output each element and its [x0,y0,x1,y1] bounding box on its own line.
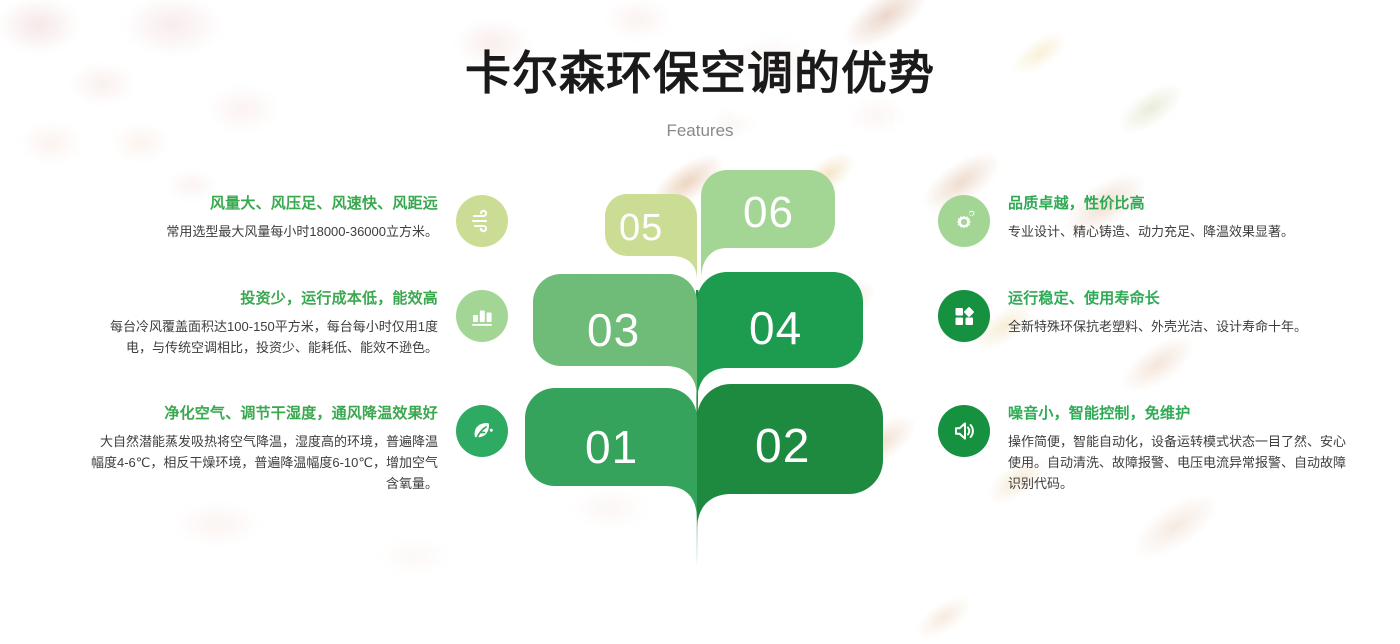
leaf-03[interactable]: 03 [533,274,697,398]
leaf-04[interactable]: 04 [697,272,863,402]
leaf-number-label: 06 [743,188,794,238]
header: 卡尔森环保空调的优势 Features [0,0,1400,142]
speaker-icon [938,405,990,457]
blocks-icon [938,290,990,342]
feature-title: 运行稳定、使用寿命长 [1008,288,1358,309]
feature-text-block: 净化空气、调节干湿度，通风降温效果好 大自然潜能蒸发吸热将空气降温，湿度高的环境… [88,403,456,494]
bar-chart-icon [456,290,508,342]
feature-item-low-noise[interactable]: 噪音小，智能控制，免维护 操作简便，智能自动化，设备运转模式状态一目了然、安心使… [938,403,1358,494]
feature-description: 专业设计、精心铸造、动力充足、降温效果显著。 [1008,221,1338,242]
leaf-06[interactable]: 06 [701,170,835,280]
leaf-01[interactable]: 01 [525,388,697,520]
feature-description: 常用选型最大风量每小时18000-36000立方米。 [108,221,438,242]
leaf-number-label: 03 [587,303,640,357]
feature-description: 操作简便，智能自动化，设备运转模式状态一目了然、安心使用。自动清洗、故障报警、电… [1008,431,1358,494]
feature-item-air-purification[interactable]: 净化空气、调节干湿度，通风降温效果好 大自然潜能蒸发吸热将空气降温，湿度高的环境… [88,403,508,494]
leaf-number-label: 05 [619,207,663,250]
feature-item-efficiency[interactable]: 投资少，运行成本低，能效高 每台冷风覆盖面积达100-150平方米，每台每小时仅… [88,288,508,358]
feature-text-block: 风量大、风压足、风速快、风距远 常用选型最大风量每小时18000-36000立方… [108,193,456,242]
feature-item-wind[interactable]: 风量大、风压足、风速快、风距远 常用选型最大风量每小时18000-36000立方… [108,193,508,247]
feature-title: 品质卓越，性价比高 [1008,193,1338,214]
feature-text-block: 噪音小，智能控制，免维护 操作简便，智能自动化，设备运转模式状态一目了然、安心使… [990,403,1358,494]
leaf-02[interactable]: 02 [697,384,883,530]
feature-text-block: 品质卓越，性价比高 专业设计、精心铸造、动力充足、降温效果显著。 [990,193,1338,242]
feature-item-durability[interactable]: 运行稳定、使用寿命长 全新特殊环保抗老塑料、外壳光洁、设计寿命十年。 [938,288,1358,342]
feature-description: 大自然潜能蒸发吸热将空气降温，湿度高的环境，普遍降温幅度4-6℃，相反干燥环境，… [88,431,438,494]
feature-text-block: 运行稳定、使用寿命长 全新特殊环保抗老塑料、外壳光洁、设计寿命十年。 [990,288,1358,337]
page-title: 卡尔森环保空调的优势 [0,0,1400,102]
leaf-05[interactable]: 05 [605,194,697,280]
feature-title: 净化空气、调节干湿度，通风降温效果好 [88,403,438,424]
feature-title: 噪音小，智能控制，免维护 [1008,403,1358,424]
feature-title: 投资少，运行成本低，能效高 [88,288,438,309]
infographic-page: 卡尔森环保空调的优势 Features 风量大、风压足、风速快、风距远 常用选型… [0,0,1400,644]
leaf-number-cluster: 05 06 03 04 01 [505,170,895,570]
page-subtitle: Features [0,102,1400,142]
gears-icon [938,195,990,247]
feature-description: 全新特殊环保抗老塑料、外壳光洁、设计寿命十年。 [1008,316,1358,337]
wind-icon [456,195,508,247]
leaf-number-label: 02 [755,419,810,474]
eco-leaf-icon [456,405,508,457]
feature-title: 风量大、风压足、风速快、风距远 [108,193,438,214]
feature-item-quality[interactable]: 品质卓越，性价比高 专业设计、精心铸造、动力充足、降温效果显著。 [938,193,1338,247]
leaf-number-label: 01 [585,420,638,474]
feature-text-block: 投资少，运行成本低，能效高 每台冷风覆盖面积达100-150平方米，每台每小时仅… [88,288,456,358]
leaf-number-label: 04 [749,301,802,355]
feature-description: 每台冷风覆盖面积达100-150平方米，每台每小时仅用1度电，与传统空调相比，投… [88,316,438,358]
